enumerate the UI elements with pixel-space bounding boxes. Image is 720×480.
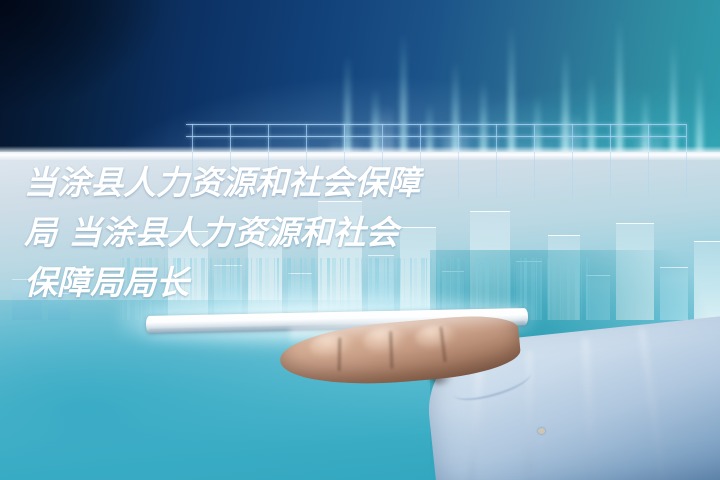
sleeve-fold: [639, 328, 667, 480]
sleeve-fold: [582, 339, 597, 480]
grid-line-horizontal: [186, 124, 686, 125]
barcode-stripe: [581, 258, 582, 320]
barcode-stripe: [586, 258, 588, 320]
barcode-stripe: [589, 258, 590, 320]
finger-crease: [338, 337, 342, 371]
banner-image: 当涂县人力资源和社会保障 局 当涂县人力资源和社会 保障局局长: [0, 0, 720, 480]
cuff-button: [538, 428, 545, 434]
barcode-stripe: [567, 258, 570, 320]
barcode-stripe: [560, 258, 561, 320]
barcode-stripe: [562, 258, 564, 320]
grid-line-horizontal: [186, 136, 686, 137]
barcode-stripe: [575, 258, 579, 320]
